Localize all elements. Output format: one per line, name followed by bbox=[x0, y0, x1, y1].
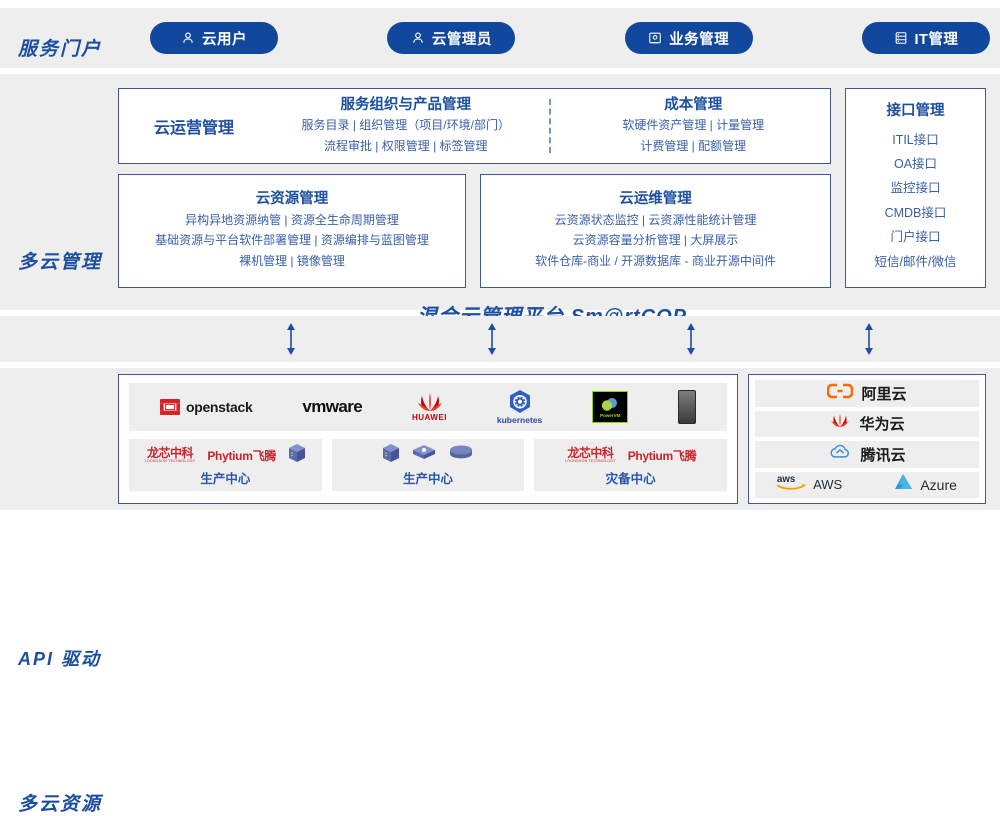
column-divider bbox=[549, 99, 551, 153]
public-cloud-label: 阿里云 bbox=[861, 383, 906, 404]
kubernetes-helm-icon bbox=[507, 389, 533, 415]
bidirectional-arrow-icon bbox=[684, 322, 698, 356]
loongson-label-en: LOONGSON TECHNOLOGY bbox=[565, 460, 616, 464]
cloud-maintenance-mgmt-title: 云运维管理 bbox=[619, 190, 692, 210]
public-cloud-panel: 阿里云 华为云 腾讯云 aws AWS bbox=[748, 374, 986, 504]
architecture-diagram: 服务门户 云用户 云管理员 业务管理 bbox=[0, 0, 1000, 518]
service-product-mgmt-title: 服务组织与产品管理 bbox=[341, 96, 472, 116]
interface-item-monitor: 监控接口 bbox=[890, 176, 940, 200]
datacenter-production-1[interactable]: 龙芯中科 LOONGSON TECHNOLOGY Phytium飞腾 生产中心 bbox=[129, 439, 322, 491]
powervm-sphere-icon bbox=[599, 397, 621, 413]
cloud-maintenance-mgmt-box[interactable]: 云运维管理 云资源状态监控 | 云资源性能统计管理 云资源容量分析管理 | 大屏… bbox=[480, 174, 831, 288]
detail-line: 计费管理 | 配额管理 bbox=[622, 136, 764, 157]
portal-button-label: 业务管理 bbox=[669, 28, 729, 49]
detail-line: 软硬件资产管理 | 计量管理 bbox=[622, 115, 764, 136]
cloud-resource-mgmt-lines: 异构异地资源纳管 | 资源全生命周期管理 基础资源与平台软件部署管理 | 资源编… bbox=[155, 210, 429, 272]
loongson-logo: 龙芯中科 LOONGSON TECHNOLOGY bbox=[565, 447, 616, 464]
multicloud-management-label: 多云管理 bbox=[18, 247, 102, 274]
cost-mgmt-lines: 软硬件资产管理 | 计量管理 计费管理 | 配额管理 bbox=[622, 115, 764, 156]
interface-item-message: 短信/邮件/微信 bbox=[875, 250, 957, 274]
service-portal-band: 服务门户 云用户 云管理员 业务管理 bbox=[0, 8, 1000, 68]
detail-line: 流程审批 | 权限管理 | 标签管理 bbox=[302, 136, 510, 157]
switch-icon bbox=[412, 444, 436, 467]
datacenter-row: 龙芯中科 LOONGSON TECHNOLOGY Phytium飞腾 生产中心 bbox=[129, 439, 727, 491]
openstack-logo: openstack bbox=[160, 398, 253, 416]
user-icon bbox=[411, 31, 425, 45]
svg-text:aws: aws bbox=[777, 474, 795, 485]
datacenter-name: 灾备中心 bbox=[606, 468, 656, 487]
api-arrow-group bbox=[118, 316, 986, 362]
phytium-logo: Phytium飞腾 bbox=[207, 447, 276, 464]
loongson-label-cn: 龙芯中科 bbox=[147, 447, 193, 459]
loongson-label-en: LOONGSON TECHNOLOGY bbox=[145, 460, 196, 464]
portal-button-cloud-user[interactable]: 云用户 bbox=[150, 22, 278, 54]
bidirectional-arrow-icon bbox=[485, 322, 499, 356]
huawei-logo: HUAWEI bbox=[412, 393, 447, 422]
portal-button-business-mgmt[interactable]: 业务管理 bbox=[625, 22, 753, 54]
vendor-label: openstack bbox=[186, 399, 253, 415]
public-cloud-aws-azure-row: aws AWS Azure bbox=[755, 472, 979, 499]
interface-mgmt-title: 接口管理 bbox=[887, 102, 945, 122]
public-cloud-tencent[interactable]: 腾讯云 bbox=[755, 441, 979, 468]
portal-button-label: IT管理 bbox=[915, 28, 959, 49]
private-resources-panel: openstack vmware HUAWEI bbox=[118, 374, 738, 504]
service-product-mgmt-lines: 服务目录 | 组织管理（项目/环境/部门） 流程审批 | 权限管理 | 标签管理 bbox=[302, 115, 510, 156]
server-cube-icon bbox=[382, 443, 400, 468]
service-product-mgmt-column: 服务组织与产品管理 服务目录 | 组织管理（项目/环境/部门） 流程审批 | 权… bbox=[269, 96, 543, 157]
huaweicloud-logo bbox=[829, 413, 851, 434]
vendor-label: kubernetes bbox=[497, 416, 542, 425]
interface-item-cmdb: CMDB接口 bbox=[885, 201, 947, 225]
detail-line: 基础资源与平台软件部署管理 | 资源编排与蓝图管理 bbox=[155, 230, 429, 251]
interface-item-oa: OA接口 bbox=[894, 152, 937, 176]
interface-mgmt-box[interactable]: 接口管理 ITIL接口 OA接口 监控接口 CMDB接口 门户接口 短信/邮件/… bbox=[845, 88, 986, 288]
cloud-operation-box[interactable]: 云运营管理 服务组织与产品管理 服务目录 | 组织管理（项目/环境/部门） 流程… bbox=[118, 88, 831, 164]
public-cloud-label: 华为云 bbox=[859, 413, 904, 434]
portal-button-it-mgmt[interactable]: IT管理 bbox=[862, 22, 990, 54]
cost-mgmt-title: 成本管理 bbox=[664, 96, 722, 116]
interface-item-portal: 门户接口 bbox=[890, 225, 940, 249]
management-boxes: 云运营管理 服务组织与产品管理 服务目录 | 组织管理（项目/环境/部门） 流程… bbox=[118, 88, 986, 288]
aliyun-logo bbox=[827, 383, 853, 404]
user-icon bbox=[181, 31, 195, 45]
cloud-resource-mgmt-box[interactable]: 云资源管理 异构异地资源纳管 | 资源全生命周期管理 基础资源与平台软件部署管理… bbox=[118, 174, 466, 288]
datacenter-name: 生产中心 bbox=[200, 468, 250, 487]
bidirectional-arrow-icon bbox=[862, 322, 876, 356]
detail-line: 云资源状态监控 | 云资源性能统计管理 bbox=[535, 210, 776, 231]
public-cloud-huawei[interactable]: 华为云 bbox=[755, 411, 979, 438]
detail-line: 服务目录 | 组织管理（项目/环境/部门） bbox=[302, 115, 510, 136]
tencentcloud-logo bbox=[828, 444, 852, 465]
portal-button-label: 云用户 bbox=[202, 28, 247, 49]
vendor-label: vmware bbox=[302, 397, 362, 417]
azure-logo bbox=[894, 473, 914, 496]
portal-button-label: 云管理员 bbox=[432, 28, 492, 49]
vendor-label: HUAWEI bbox=[412, 414, 447, 422]
portal-button-cloud-admin[interactable]: 云管理员 bbox=[387, 22, 515, 54]
server-cube-icon bbox=[288, 443, 306, 468]
multicloud-management-band: 多云管理 云运营管理 服务组织与产品管理 服务目录 | 组织管理（项目/环境/部… bbox=[0, 74, 1000, 310]
cost-mgmt-column: 成本管理 软硬件资产管理 | 计量管理 计费管理 | 配额管理 bbox=[557, 96, 831, 157]
detail-line: 云资源容量分析管理 | 大屏展示 bbox=[535, 230, 776, 251]
cloud-maintenance-mgmt-lines: 云资源状态监控 | 云资源性能统计管理 云资源容量分析管理 | 大屏展示 软件仓… bbox=[535, 210, 776, 272]
portal-button-group: 云用户 云管理员 业务管理 IT管理 bbox=[150, 8, 990, 68]
public-cloud-label: 腾讯云 bbox=[860, 444, 905, 465]
bidirectional-arrow-icon bbox=[284, 322, 298, 356]
datacenter-production-2[interactable]: 生产中心 bbox=[332, 439, 525, 491]
phytium-logo: Phytium飞腾 bbox=[628, 447, 697, 464]
detail-line: 异构异地资源纳管 | 资源全生命周期管理 bbox=[155, 210, 429, 231]
public-cloud-label: AWS bbox=[813, 477, 842, 492]
multicloud-resources-band: 多云资源 openstack vmware bbox=[0, 368, 1000, 510]
cloud-resource-mgmt-title: 云资源管理 bbox=[256, 190, 329, 210]
vendor-label: PowerVM bbox=[600, 413, 620, 418]
kubernetes-logo: kubernetes bbox=[497, 389, 542, 425]
server-icon bbox=[894, 31, 908, 45]
huawei-flower-icon bbox=[415, 393, 445, 413]
business-icon bbox=[648, 31, 662, 45]
cloud-operation-title: 云运营管理 bbox=[119, 114, 269, 138]
multicloud-resources-label: 多云资源 bbox=[18, 789, 102, 816]
aws-logo: aws bbox=[777, 473, 807, 496]
vmware-logo: vmware bbox=[302, 397, 362, 417]
loongson-label-cn: 龙芯中科 bbox=[567, 447, 613, 459]
detail-line: 裸机管理 | 镜像管理 bbox=[155, 251, 429, 272]
loongson-logo: 龙芯中科 LOONGSON TECHNOLOGY bbox=[145, 447, 196, 464]
api-driven-band: API 驱动 bbox=[0, 316, 1000, 362]
public-cloud-aliyun[interactable]: 阿里云 bbox=[755, 380, 979, 407]
powervm-logo: PowerVM bbox=[592, 391, 628, 423]
public-cloud-aws[interactable]: aws AWS bbox=[777, 473, 842, 496]
datacenter-name: 生产中心 bbox=[403, 468, 453, 487]
detail-line: 软件仓库-商业 / 开源数据库 - 商业开源中间件 bbox=[535, 251, 776, 272]
server-rack-icon bbox=[678, 390, 696, 424]
datacenter-disaster-recovery[interactable]: 龙芯中科 LOONGSON TECHNOLOGY Phytium飞腾 灾备中心 bbox=[534, 439, 727, 491]
api-driven-label: API 驱动 bbox=[18, 645, 101, 671]
public-cloud-azure[interactable]: Azure bbox=[894, 473, 957, 496]
interface-item-itil: ITIL接口 bbox=[892, 128, 939, 152]
vendor-logo-strip: openstack vmware HUAWEI bbox=[129, 383, 727, 431]
public-cloud-label: Azure bbox=[920, 477, 957, 493]
storage-icon bbox=[448, 444, 474, 467]
service-portal-label: 服务门户 bbox=[18, 34, 102, 61]
